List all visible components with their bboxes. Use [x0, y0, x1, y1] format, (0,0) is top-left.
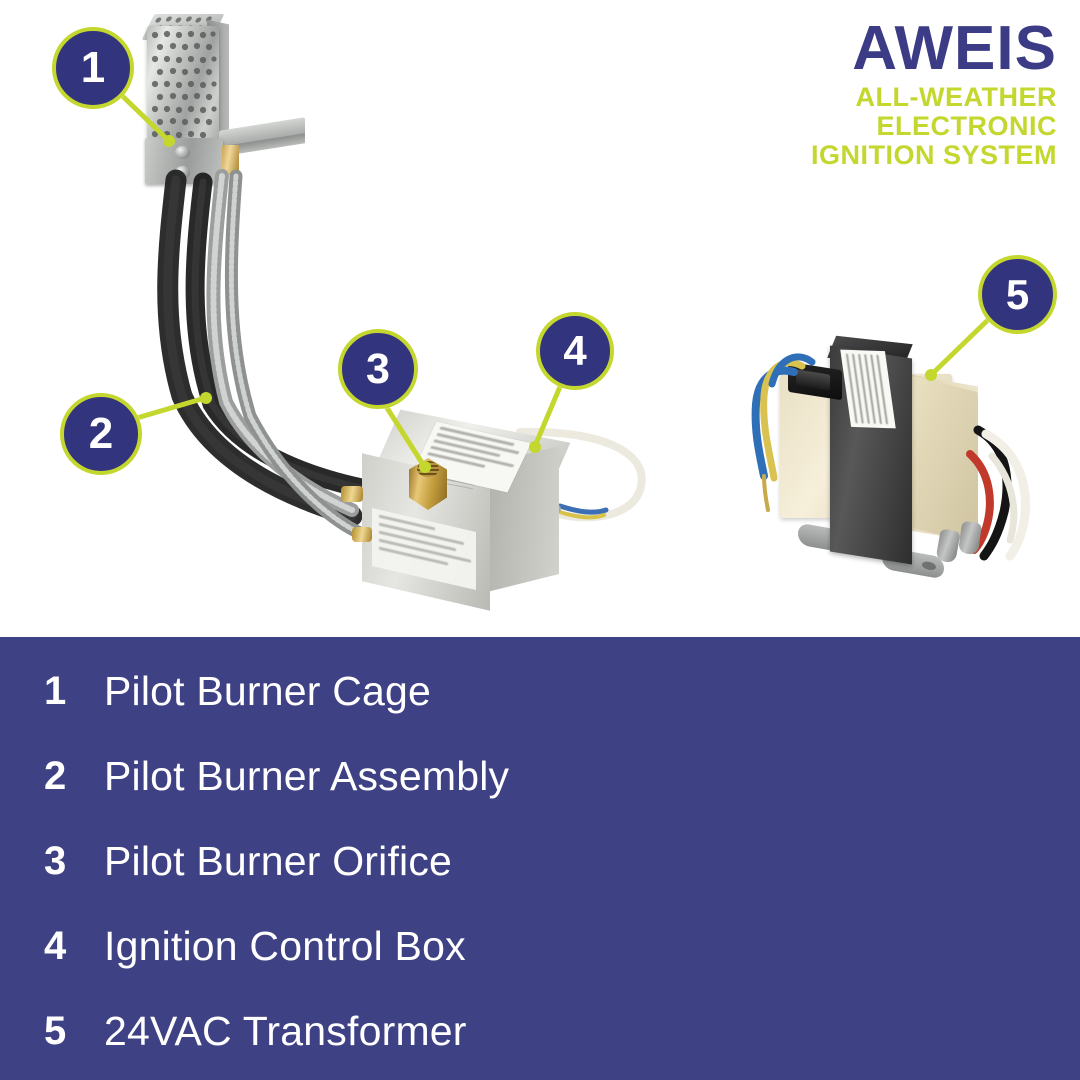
legend-number-2: 2	[0, 754, 104, 799]
callout-badge-1[interactable]: 1	[52, 27, 134, 109]
aweis-logo: AWEIS ALL-WEATHER ELECTRONIC IGNITION SY…	[811, 18, 1057, 169]
legend-row-5: 5 24VAC Transformer	[0, 989, 1080, 1074]
callout-badge-5[interactable]: 5	[978, 255, 1057, 334]
legend-label-1: Pilot Burner Cage	[104, 668, 431, 715]
product-photo-area: 1 2 3 4 5 AWEIS ALL-WEATHER ELECTRONIC I…	[0, 0, 1080, 637]
callout-badge-3-number: 3	[366, 348, 390, 391]
callout-badge-4-number: 4	[563, 330, 586, 372]
legend-number-3: 3	[0, 839, 104, 884]
callout-badge-2[interactable]: 2	[60, 393, 142, 475]
legend-number-5: 5	[0, 1009, 104, 1054]
callout-badge-2-number: 2	[89, 412, 113, 456]
legend-number-4: 4	[0, 924, 104, 969]
logo-brand-text: AWEIS	[811, 18, 1057, 80]
callout-badge-1-number: 1	[81, 46, 105, 90]
logo-tagline-line-3: IGNITION SYSTEM	[811, 142, 1057, 169]
product-diagram: 1 2 3 4 5 AWEIS ALL-WEATHER ELECTRONIC I…	[0, 0, 1080, 1080]
callout-badge-5-number: 5	[1006, 274, 1029, 316]
logo-tagline-line-1: ALL-WEATHER	[811, 84, 1057, 111]
callout-badge-4[interactable]: 4	[536, 312, 614, 390]
legend-label-3: Pilot Burner Orifice	[104, 838, 452, 885]
legend-row-2: 2 Pilot Burner Assembly	[0, 734, 1080, 819]
legend-row-1: 1 Pilot Burner Cage	[0, 649, 1080, 734]
logo-tagline-line-2: ELECTRONIC	[811, 113, 1057, 140]
legend-label-2: Pilot Burner Assembly	[104, 753, 509, 800]
legend-row-4: 4 Ignition Control Box	[0, 904, 1080, 989]
legend-label-5: 24VAC Transformer	[104, 1008, 467, 1055]
legend-panel: 1 Pilot Burner Cage 2 Pilot Burner Assem…	[0, 637, 1080, 1080]
legend-label-4: Ignition Control Box	[104, 923, 466, 970]
legend-row-3: 3 Pilot Burner Orifice	[0, 819, 1080, 904]
legend-number-1: 1	[0, 669, 104, 714]
callout-badge-3[interactable]: 3	[338, 329, 418, 409]
